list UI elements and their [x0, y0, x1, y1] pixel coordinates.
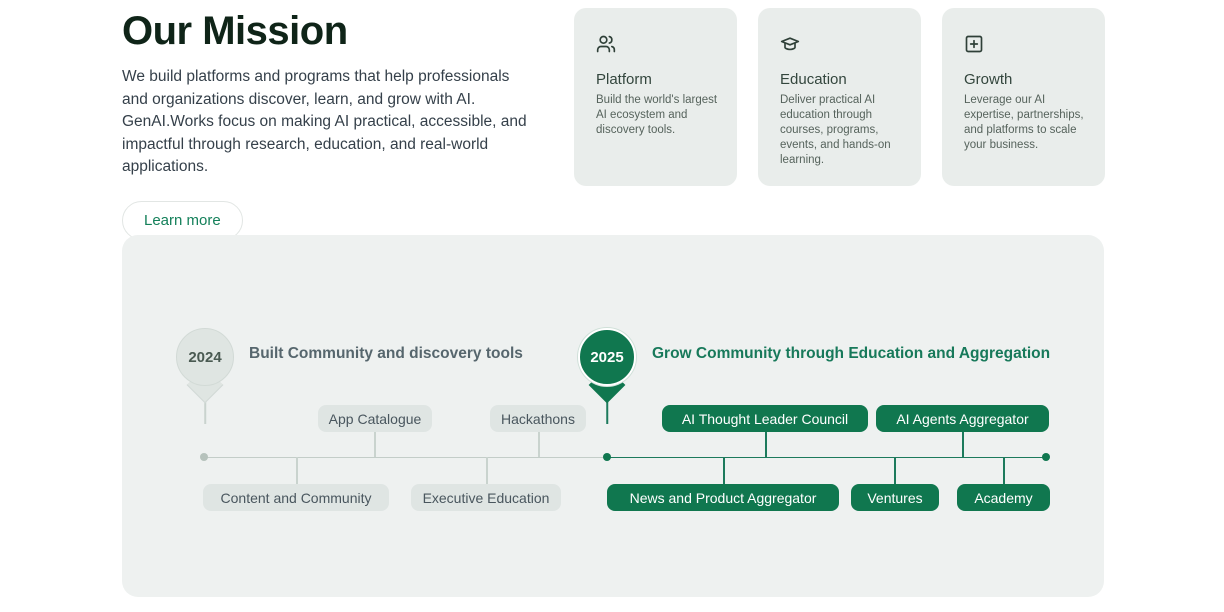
node-app-catalogue[interactable]: App Catalogue — [318, 405, 432, 432]
mission-body-text: We build platforms and programs that hel… — [122, 66, 534, 179]
card-platform[interactable]: Platform Build the world's largest AI ec… — [574, 8, 737, 186]
connector-ai-agents-aggregator — [962, 432, 964, 457]
axis-dot-start — [200, 453, 208, 461]
timeline-pin-2025[interactable]: 2025 — [578, 328, 636, 386]
card-growth[interactable]: Growth Leverage our AI expertise, partne… — [942, 8, 1105, 186]
axis-dot-2025-start — [603, 453, 611, 461]
card-platform-desc: Build the world's largest AI ecosystem a… — [596, 93, 718, 138]
timeline-pin-2024[interactable]: 2024 — [176, 328, 234, 386]
plus-square-icon — [964, 34, 1087, 59]
connector-app-catalogue — [374, 432, 376, 457]
connector-ventures — [894, 457, 896, 484]
node-ai-agents-aggregator[interactable]: AI Agents Aggregator — [876, 405, 1049, 432]
connector-academy — [1003, 457, 1005, 484]
connector-hackathons — [538, 432, 540, 457]
timeline-axis-2025 — [607, 457, 1047, 459]
era-heading-2024: Built Community and discovery tools — [249, 345, 523, 363]
card-growth-desc: Leverage our AI expertise, partnerships,… — [964, 93, 1086, 153]
card-growth-title: Growth — [964, 71, 1087, 88]
card-education-desc: Deliver practical AI education through c… — [780, 93, 902, 168]
node-executive-education[interactable]: Executive Education — [411, 484, 561, 511]
learn-more-button[interactable]: Learn more — [122, 201, 243, 240]
connector-ai-thought-leader-council — [765, 432, 767, 457]
card-education-title: Education — [780, 71, 903, 88]
timeline-axis-2024 — [204, 457, 608, 459]
mission-section: Our Mission We build platforms and progr… — [122, 8, 552, 240]
card-platform-title: Platform — [596, 71, 719, 88]
users-icon — [596, 34, 719, 59]
connector-news-and-product-aggregator — [723, 457, 725, 484]
node-ventures[interactable]: Ventures — [851, 484, 939, 511]
node-news-and-product-aggregator[interactable]: News and Product Aggregator — [607, 484, 839, 511]
card-education[interactable]: Education Deliver practical AI education… — [758, 8, 921, 186]
graduation-cap-icon — [780, 34, 903, 59]
page-title: Our Mission — [122, 8, 552, 54]
pin-2025-year: 2025 — [578, 328, 636, 386]
pin-2024-year: 2024 — [176, 328, 234, 386]
node-content-and-community[interactable]: Content and Community — [203, 484, 389, 511]
feature-cards: Platform Build the world's largest AI ec… — [574, 8, 1105, 186]
node-ai-thought-leader-council[interactable]: AI Thought Leader Council — [662, 405, 868, 432]
page-root: Our Mission We build platforms and progr… — [0, 0, 1224, 612]
connector-content-community — [296, 457, 298, 484]
node-academy[interactable]: Academy — [957, 484, 1050, 511]
axis-dot-end — [1042, 453, 1050, 461]
era-heading-2025: Grow Community through Education and Agg… — [652, 345, 1050, 363]
node-hackathons[interactable]: Hackathons — [490, 405, 586, 432]
connector-executive-education — [486, 457, 488, 484]
